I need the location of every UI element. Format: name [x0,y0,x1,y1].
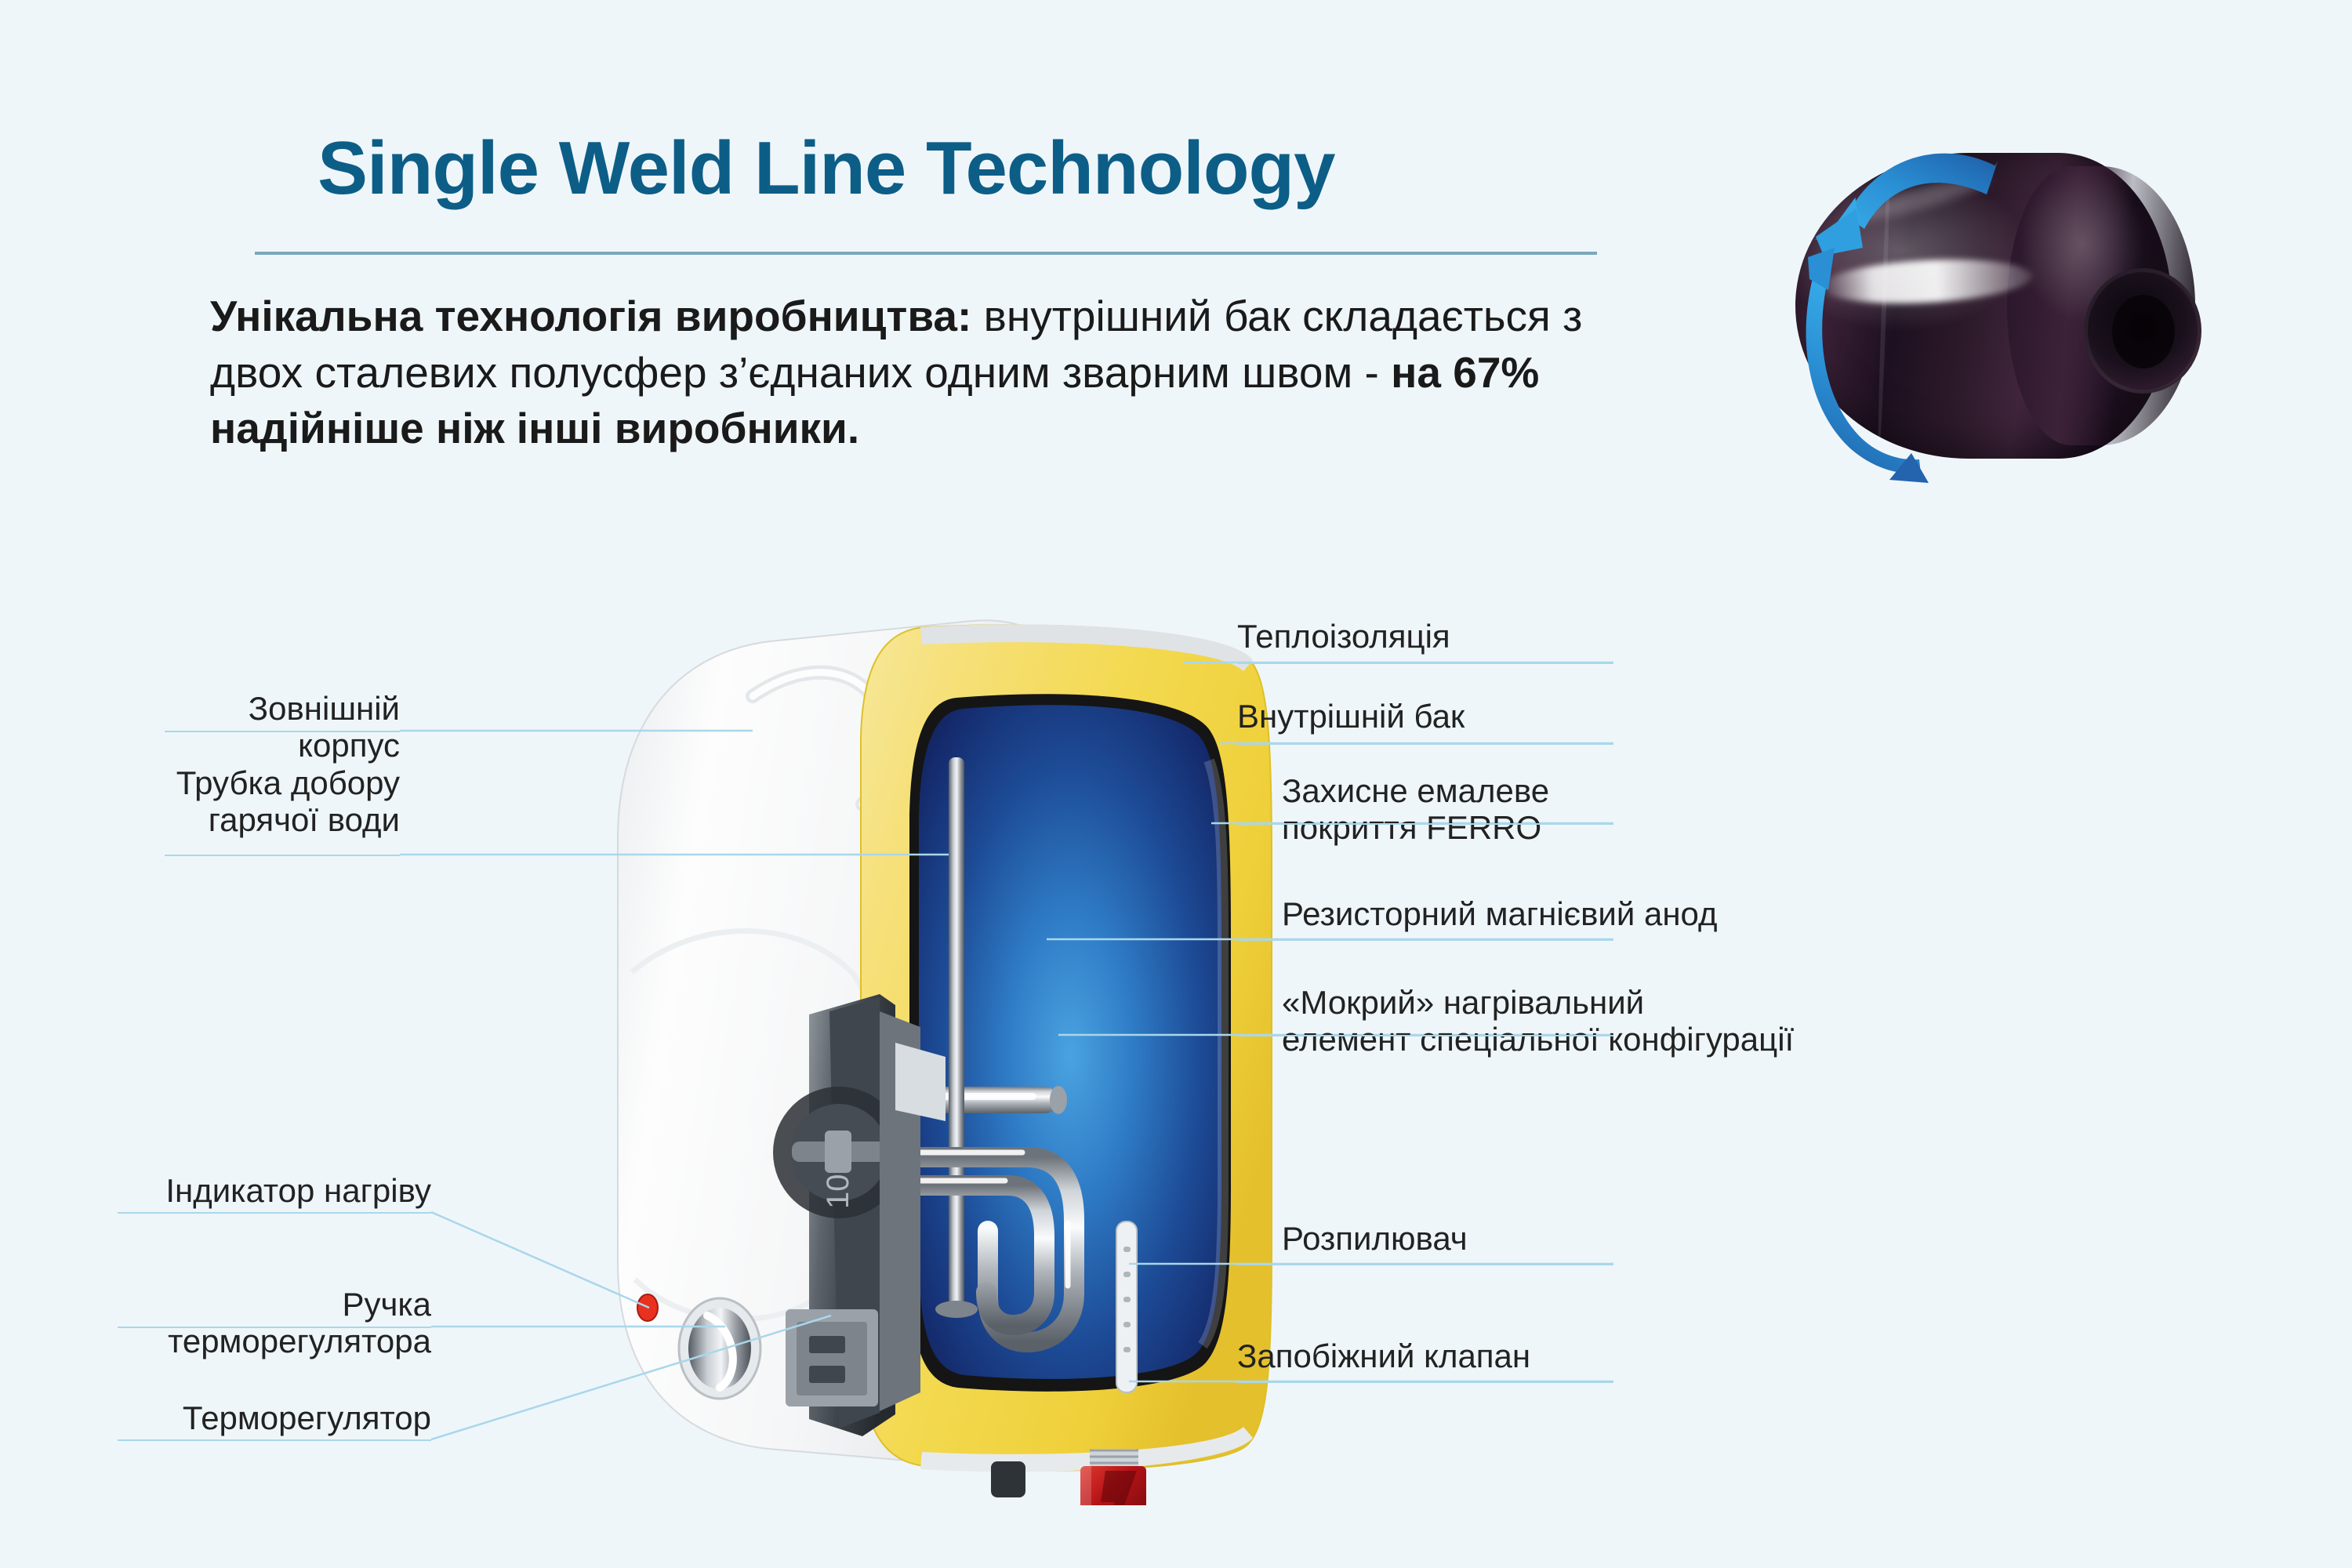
label-thermostat-knob: Ручка терморегулятора [102,1286,431,1360]
label-safety-valve: Запобіжний клапан [1237,1338,1530,1374]
leader-heating-indicator [431,1212,649,1308]
label-thermal-insulation: Теплоізоляція [1237,618,1450,655]
rule-safety-valve [1237,1381,1613,1383]
label-inner-tank: Внутрішній бак [1237,698,1465,735]
label-magnesium-anode: Резисторний магнієвий анод [1282,895,1718,932]
rule-thermal-insulation [1237,662,1613,664]
label-thermostat: Терморегулятор [102,1399,431,1436]
label-heating-indicator: Індикатор нагріву [102,1172,431,1209]
rule-heating-indicator [118,1212,431,1214]
rule-wet-heating-element [1237,1035,1613,1036]
label-diffuser: Розпилювач [1282,1220,1468,1257]
rule-thermostat-knob [118,1327,431,1328]
rule-ferro-enamel [1237,823,1613,825]
rule-inner-tank [1237,743,1613,745]
label-wet-heating-element: «Мокрий» нагрівальний елемент спеціально… [1282,984,1794,1058]
label-hot-water-pipe: Трубка добору гарячої води [149,764,400,839]
rule-diffuser [1237,1264,1613,1265]
label-ferro-enamel: Захисне емалеве покриття FERRO [1282,772,1549,847]
rule-thermostat [118,1439,431,1441]
rule-hot-water-pipe [165,855,400,856]
rule-magnesium-anode [1237,939,1613,941]
rule-outer-casing [165,731,400,732]
label-outer-casing: Зовнішній корпус [165,690,400,764]
leader-thermostat [431,1316,831,1439]
infographic-canvas: Single Weld Line Technology Унікальна те… [0,0,2352,1568]
